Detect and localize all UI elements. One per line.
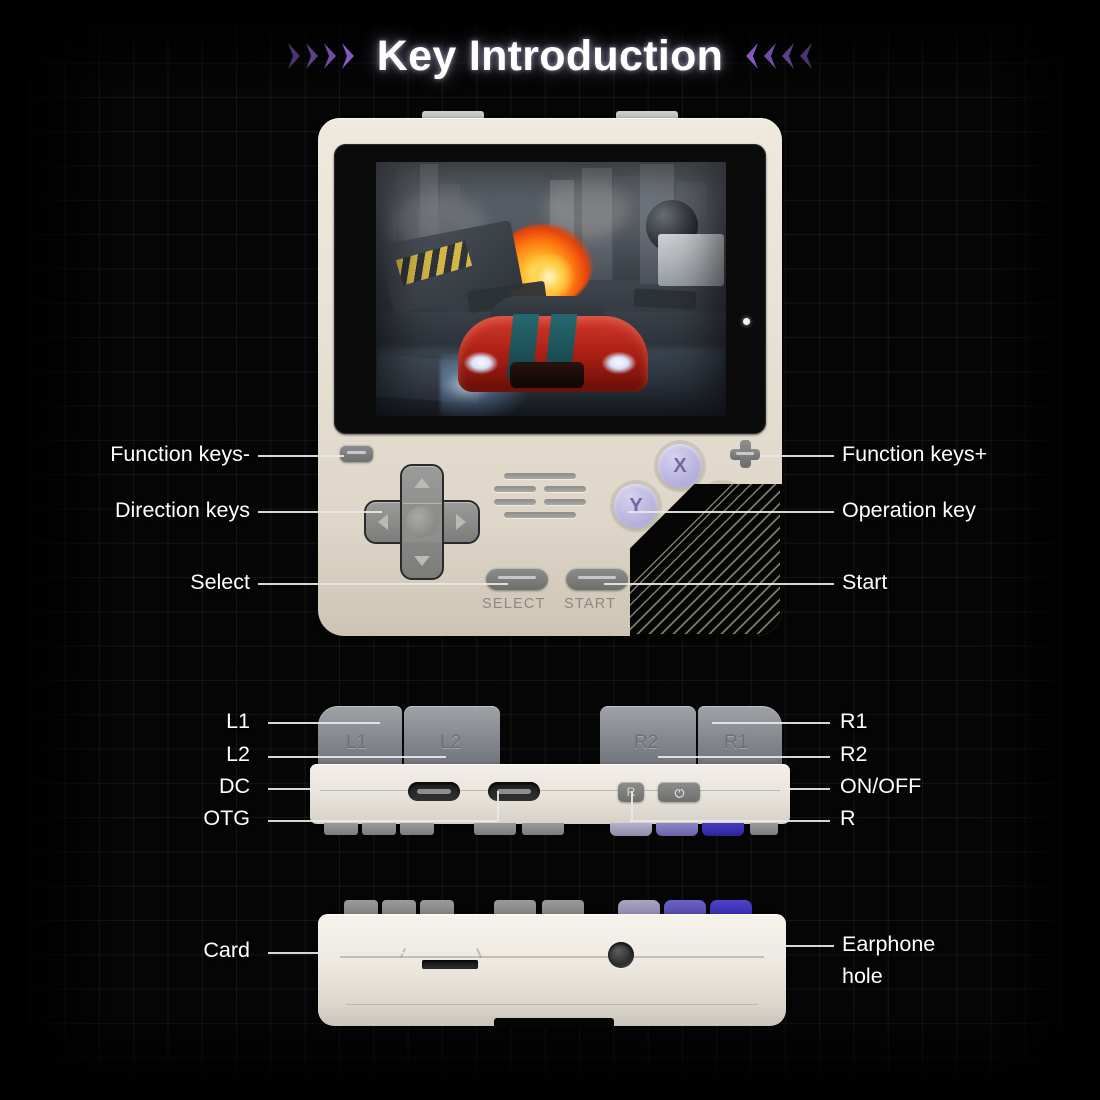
tf-card-slot[interactable] [422,960,478,969]
label-operation-key: Operation key [842,498,976,523]
chevron-right-icon [304,41,321,71]
leader-select [258,583,508,585]
screen-bezel [334,144,766,434]
dpad-up-icon [414,478,430,488]
power-button[interactable] [658,782,700,802]
bottom-nub [324,823,358,835]
bottom-edge-view-device [318,900,786,1040]
game-screen [376,162,726,416]
label-select: Select [0,570,250,595]
page-title: Key Introduction [377,32,723,81]
leader-dc [268,788,408,790]
chevrons-right-group [743,41,814,71]
label-l2: L2 [0,742,250,767]
label-start: Start [842,570,887,595]
speaker-grille [494,473,586,523]
power-icon [673,786,686,799]
leader-r-vertical [631,791,633,821]
otg-port[interactable] [488,782,540,801]
label-function-keys-minus: Function keys- [0,442,250,467]
button-underside-y [610,823,652,836]
device-body-top-edge [310,764,790,824]
device-seam-line [320,790,780,791]
bottom-nub [474,823,516,835]
device-step-line [340,956,764,958]
button-x[interactable]: X [658,444,702,488]
start-button[interactable] [566,568,628,590]
leader-start [604,583,834,585]
leader-r1 [712,722,830,724]
leader-card [268,952,476,954]
leader-on-off [700,788,830,790]
label-dc: DC [0,774,250,799]
dpad-down-icon [414,556,430,566]
dpad-right-icon [456,514,466,530]
dc-port[interactable] [408,782,460,801]
button-underside-a [702,823,744,836]
device-foot-gap [494,1018,614,1028]
label-on-off: ON/OFF [840,774,921,799]
screen-indicator-dot [743,318,750,325]
leader-r2 [658,756,830,758]
shoulder-r1-label: R1 [724,732,748,754]
label-r: R [840,806,856,831]
leader-r [630,820,830,822]
leader-function-keys-minus [258,455,344,457]
dpad-left-icon [378,514,388,530]
label-function-keys-plus: Function keys+ [842,442,987,467]
shoulder-l1-label: L1 [346,732,367,754]
shoulder-r2-label: R2 [634,732,658,754]
label-earphone-hole: Earphone [842,932,935,957]
chevron-left-icon [743,41,760,71]
label-card: Card [0,938,250,963]
earphone-hole[interactable] [608,942,634,968]
leader-function-keys-plus [760,455,834,457]
leader-otg-vertical [497,791,499,821]
label-r2: R2 [840,742,867,767]
page-header: Key Introduction [0,24,1100,88]
bottom-nub [400,823,434,835]
chevrons-left-group [286,41,357,71]
direction-keys-dpad[interactable] [364,464,480,580]
chevron-right-icon [322,41,339,71]
chevron-left-icon [797,41,814,71]
label-direction-keys: Direction keys [0,498,250,523]
corner-edge-line [630,484,782,636]
label-otg: OTG [0,806,250,831]
leader-direction-keys [258,511,382,513]
bottom-nub [522,823,564,835]
chevron-left-icon [761,41,778,71]
select-button[interactable] [486,568,548,590]
label-r1: R1 [840,709,867,734]
leader-operation-key [628,511,834,513]
button-underside-x [656,823,698,836]
leader-earphone-hole [640,945,834,947]
front-view-device: X Y A B SELECT START [318,118,782,636]
label-l1: L1 [0,709,250,734]
chevron-right-icon [286,41,303,71]
shoulder-l2-label: L2 [440,732,461,754]
select-button-label: SELECT [482,596,546,612]
top-edge-view-device: L1 L2 R2 R1 R [310,706,790,846]
game-scene-art [376,162,726,416]
leader-l2 [268,756,446,758]
start-button-label: START [564,596,616,612]
label-earphone-hole-line2: hole [842,964,883,989]
bottom-nub [362,823,396,835]
leader-otg [268,820,498,822]
bottom-nub [750,823,778,835]
function-keys-minus-button[interactable] [340,445,373,462]
leader-l1 [268,722,380,724]
infographic-page: Key Introduction [0,0,1100,1100]
chevron-right-icon [340,41,357,71]
chevron-left-icon [779,41,796,71]
